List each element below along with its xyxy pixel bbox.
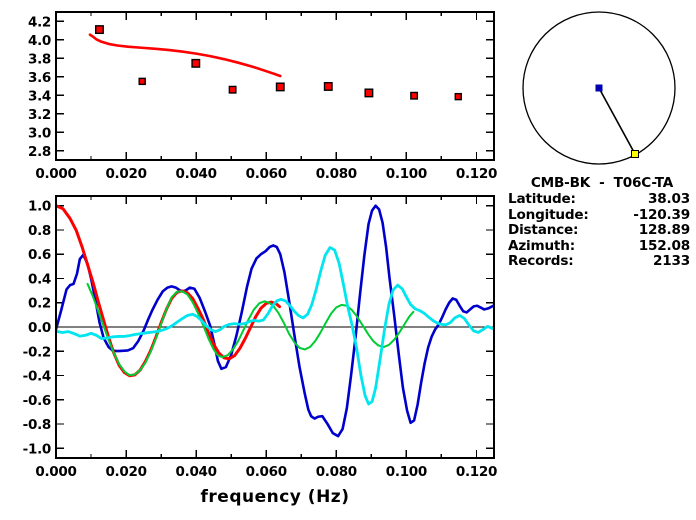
series-group bbox=[90, 26, 461, 100]
y-tick-label: 3.0 bbox=[28, 125, 51, 141]
x-tick-label: 0.000 bbox=[35, 166, 76, 182]
y-tick-label: -0.8 bbox=[23, 417, 51, 433]
x-tick-label: 0.020 bbox=[105, 464, 146, 480]
series-line-synthetic-narrowband-c bbox=[56, 248, 492, 404]
x-tick-label: 0.120 bbox=[456, 464, 497, 480]
records-value: 2133 bbox=[600, 254, 696, 269]
seismic-analysis-figure: 0.0000.0200.0400.0600.0800.1000.1202.83.… bbox=[0, 0, 696, 519]
center-station-marker bbox=[596, 85, 603, 92]
data-point-marker bbox=[455, 94, 461, 100]
y-tick-label: -0.2 bbox=[23, 344, 51, 360]
y-tick-label: 0.6 bbox=[28, 247, 51, 263]
data-point-marker bbox=[139, 78, 145, 84]
records-label: Records: bbox=[508, 254, 600, 269]
azimuth-value: 152.08 bbox=[600, 239, 696, 254]
plot-frame bbox=[56, 12, 494, 160]
x-tick-label: 0.120 bbox=[456, 166, 497, 182]
station-map bbox=[508, 4, 696, 179]
info-row-latitude: Latitude: 38.03 bbox=[508, 192, 696, 207]
x-tick-label: 0.040 bbox=[176, 464, 217, 480]
y-tick-label: 0.0 bbox=[28, 320, 51, 336]
cross-correlation-chart: 0.0000.0200.0400.0600.0800.1000.120-1.0-… bbox=[0, 190, 510, 520]
data-point-marker bbox=[229, 86, 236, 93]
data-point-marker bbox=[325, 83, 333, 91]
y-tick-label: 4.2 bbox=[28, 14, 51, 30]
y-tick-label: -1.0 bbox=[23, 441, 51, 457]
azimuth-label: Azimuth: bbox=[508, 239, 600, 254]
station-info-panel: CMB-BK - T06C-TA Latitude: 38.03 Longitu… bbox=[508, 176, 696, 269]
dispersion-curve-chart: 0.0000.0200.0400.0600.0800.1000.1202.83.… bbox=[0, 0, 510, 192]
y-tick-label: 3.4 bbox=[28, 88, 51, 104]
y-tick-label: 3.6 bbox=[28, 70, 51, 86]
info-row-azimuth: Azimuth: 152.08 bbox=[508, 239, 696, 254]
info-row-distance: Distance: 128.89 bbox=[508, 223, 696, 238]
data-point-marker bbox=[96, 26, 104, 34]
x-tick-label: 0.080 bbox=[316, 166, 357, 182]
x-tick-label: 0.040 bbox=[176, 166, 217, 182]
y-tick-label: -0.6 bbox=[23, 393, 51, 409]
x-tick-label: 0.100 bbox=[386, 464, 427, 480]
x-tick-label: 0.080 bbox=[316, 464, 357, 480]
y-tick-label: 0.8 bbox=[28, 223, 51, 239]
info-row-longitude: Longitude: -120.39 bbox=[508, 208, 696, 223]
data-point-marker bbox=[365, 89, 373, 97]
y-tick-label: 3.2 bbox=[28, 107, 51, 123]
series-group bbox=[56, 206, 493, 436]
series-line-model-prediction bbox=[90, 35, 280, 76]
remote-station-marker bbox=[632, 151, 639, 158]
y-tick-label: -0.4 bbox=[23, 369, 51, 385]
info-row-records: Records: 2133 bbox=[508, 254, 696, 269]
data-point-marker bbox=[411, 92, 418, 99]
y-tick-label: 0.2 bbox=[28, 296, 51, 312]
y-tick-label: 0.4 bbox=[28, 271, 51, 287]
x-tick-label: 0.020 bbox=[105, 166, 146, 182]
distance-value: 128.89 bbox=[600, 223, 696, 238]
y-tick-label: 2.8 bbox=[28, 144, 51, 160]
x-axis-label: frequency (Hz) bbox=[201, 487, 350, 507]
latitude-label: Latitude: bbox=[508, 192, 600, 207]
x-tick-label: 0.060 bbox=[246, 464, 287, 480]
station-pair-title: CMB-BK - T06C-TA bbox=[508, 176, 696, 191]
x-tick-label: 0.100 bbox=[386, 166, 427, 182]
series-line-observed-stack bbox=[56, 206, 493, 436]
y-tick-label: 1.0 bbox=[28, 199, 51, 215]
x-tick-label: 0.000 bbox=[35, 464, 76, 480]
distance-label: Distance: bbox=[508, 223, 600, 238]
data-point-marker bbox=[277, 83, 285, 91]
x-tick-label: 0.060 bbox=[246, 166, 287, 182]
longitude-value: -120.39 bbox=[600, 208, 696, 223]
longitude-label: Longitude: bbox=[508, 208, 600, 223]
data-point-marker bbox=[192, 60, 200, 68]
y-tick-label: 3.8 bbox=[28, 51, 51, 67]
latitude-value: 38.03 bbox=[600, 192, 696, 207]
y-tick-label: 4.0 bbox=[28, 33, 51, 49]
great-circle-path bbox=[599, 88, 635, 154]
